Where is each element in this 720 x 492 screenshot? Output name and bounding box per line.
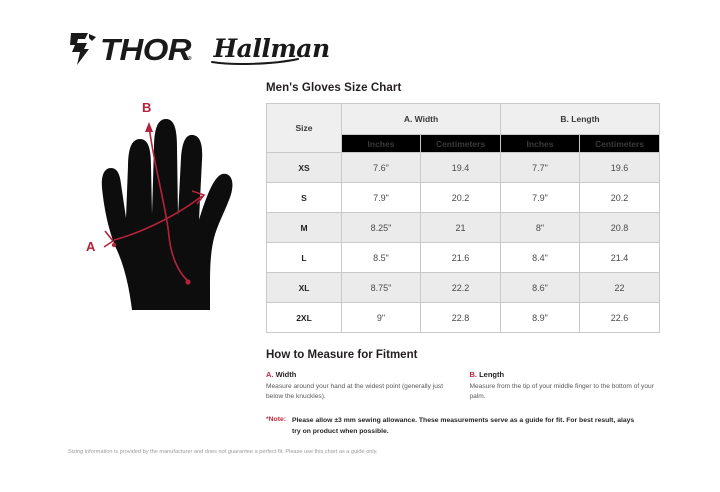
cell-width-inches: 8.5"	[342, 243, 421, 273]
table-row: XS 7.6" 19.4 7.7" 19.6	[267, 153, 660, 183]
column-header-width: A. Width	[342, 104, 501, 135]
cell-size: L	[267, 243, 342, 273]
fitment-length-heading: B. Length	[470, 370, 660, 379]
fitment-width-heading: A. Width	[266, 370, 456, 379]
length-end-dot	[185, 279, 190, 284]
cell-length-inches: 7.9"	[501, 183, 580, 213]
hallman-swash-icon	[210, 56, 302, 66]
note-row: *Note: Please allow ±3 mm sewing allowan…	[266, 416, 659, 437]
unit-header-length-inches: Inches	[501, 135, 580, 153]
table-row: S 7.9" 20.2 7.9" 20.2	[267, 183, 660, 213]
cell-length-inches: 8.6"	[501, 273, 580, 303]
cell-length-centimeters: 22.6	[580, 303, 660, 333]
thor-wordmark: THOR	[100, 34, 191, 65]
cell-length-centimeters: 20.8	[580, 213, 660, 243]
thor-helmet-icon	[68, 32, 98, 66]
cell-size: M	[267, 213, 342, 243]
cell-size: XS	[267, 153, 342, 183]
column-header-length: B. Length	[501, 104, 660, 135]
hand-measurement-diagram: B A	[74, 96, 254, 316]
thor-logo: THOR ®	[68, 32, 192, 66]
size-chart-panel: Men's Gloves Size Chart Size A. Width B.…	[266, 82, 659, 438]
cell-width-centimeters: 19.4	[421, 153, 501, 183]
cell-length-inches: 8"	[501, 213, 580, 243]
fitment-length-name: Length	[477, 370, 504, 379]
cell-size: S	[267, 183, 342, 213]
table-row: L 8.5" 21.6 8.4" 21.4	[267, 243, 660, 273]
fitment-width-letter: A.	[266, 370, 274, 379]
hand-silhouette-icon	[102, 119, 233, 310]
unit-header-length-centimeters: Centimeters	[580, 135, 660, 153]
label-a: A	[86, 239, 96, 254]
table-header-group-row: Size A. Width B. Length	[267, 104, 660, 135]
cell-length-centimeters: 20.2	[580, 183, 660, 213]
unit-header-width-centimeters: Centimeters	[421, 135, 501, 153]
fitment-section: How to Measure for Fitment A. Width Meas…	[266, 349, 659, 438]
cell-width-inches: 7.9"	[342, 183, 421, 213]
cell-width-centimeters: 21.6	[421, 243, 501, 273]
brand-logo-bar: THOR ® Hallman	[68, 32, 330, 66]
table-row: XL 8.75" 22.2 8.6" 22	[267, 273, 660, 303]
cell-length-inches: 8.4"	[501, 243, 580, 273]
footer-disclaimer: Sizing information is provided by the ma…	[68, 448, 398, 458]
note-text: Please allow ±3 mm sewing allowance. The…	[292, 416, 637, 437]
cell-length-centimeters: 21.4	[580, 243, 660, 273]
cell-size: XL	[267, 273, 342, 303]
page-title: Men's Gloves Size Chart	[266, 82, 659, 94]
label-b: B	[142, 100, 151, 115]
size-chart-table: Size A. Width B. Length Inches Centimete…	[266, 103, 660, 333]
cell-length-inches: 8.9"	[501, 303, 580, 333]
cell-width-centimeters: 22.8	[421, 303, 501, 333]
table-row: M 8.25" 21 8" 20.8	[267, 213, 660, 243]
table-row: 2XL 9" 22.8 8.9" 22.6	[267, 303, 660, 333]
cell-size: 2XL	[267, 303, 342, 333]
cell-width-inches: 8.75"	[342, 273, 421, 303]
fitment-length-text: Measure from the tip of your middle fing…	[470, 382, 660, 402]
fitment-length-block: B. Length Measure from the tip of your m…	[470, 370, 660, 402]
fitment-width-text: Measure around your hand at the widest p…	[266, 382, 456, 402]
cell-width-centimeters: 20.2	[421, 183, 501, 213]
cell-width-inches: 8.25"	[342, 213, 421, 243]
cell-width-centimeters: 22.2	[421, 273, 501, 303]
unit-header-width-inches: Inches	[342, 135, 421, 153]
fitment-length-letter: B.	[470, 370, 478, 379]
fitment-width-name: Width	[274, 370, 297, 379]
column-header-size: Size	[267, 104, 342, 153]
hallman-logo: Hallman	[206, 36, 330, 62]
cell-width-inches: 7.6"	[342, 153, 421, 183]
length-arrow-head-icon	[145, 122, 153, 132]
fitment-width-block: A. Width Measure around your hand at the…	[266, 370, 456, 402]
cell-width-inches: 9"	[342, 303, 421, 333]
cell-length-centimeters: 22	[580, 273, 660, 303]
cell-length-inches: 7.7"	[501, 153, 580, 183]
fitment-title: How to Measure for Fitment	[266, 349, 659, 361]
width-end-dot	[112, 243, 116, 247]
note-label: *Note:	[266, 416, 286, 423]
cell-length-centimeters: 19.6	[580, 153, 660, 183]
cell-width-centimeters: 21	[421, 213, 501, 243]
